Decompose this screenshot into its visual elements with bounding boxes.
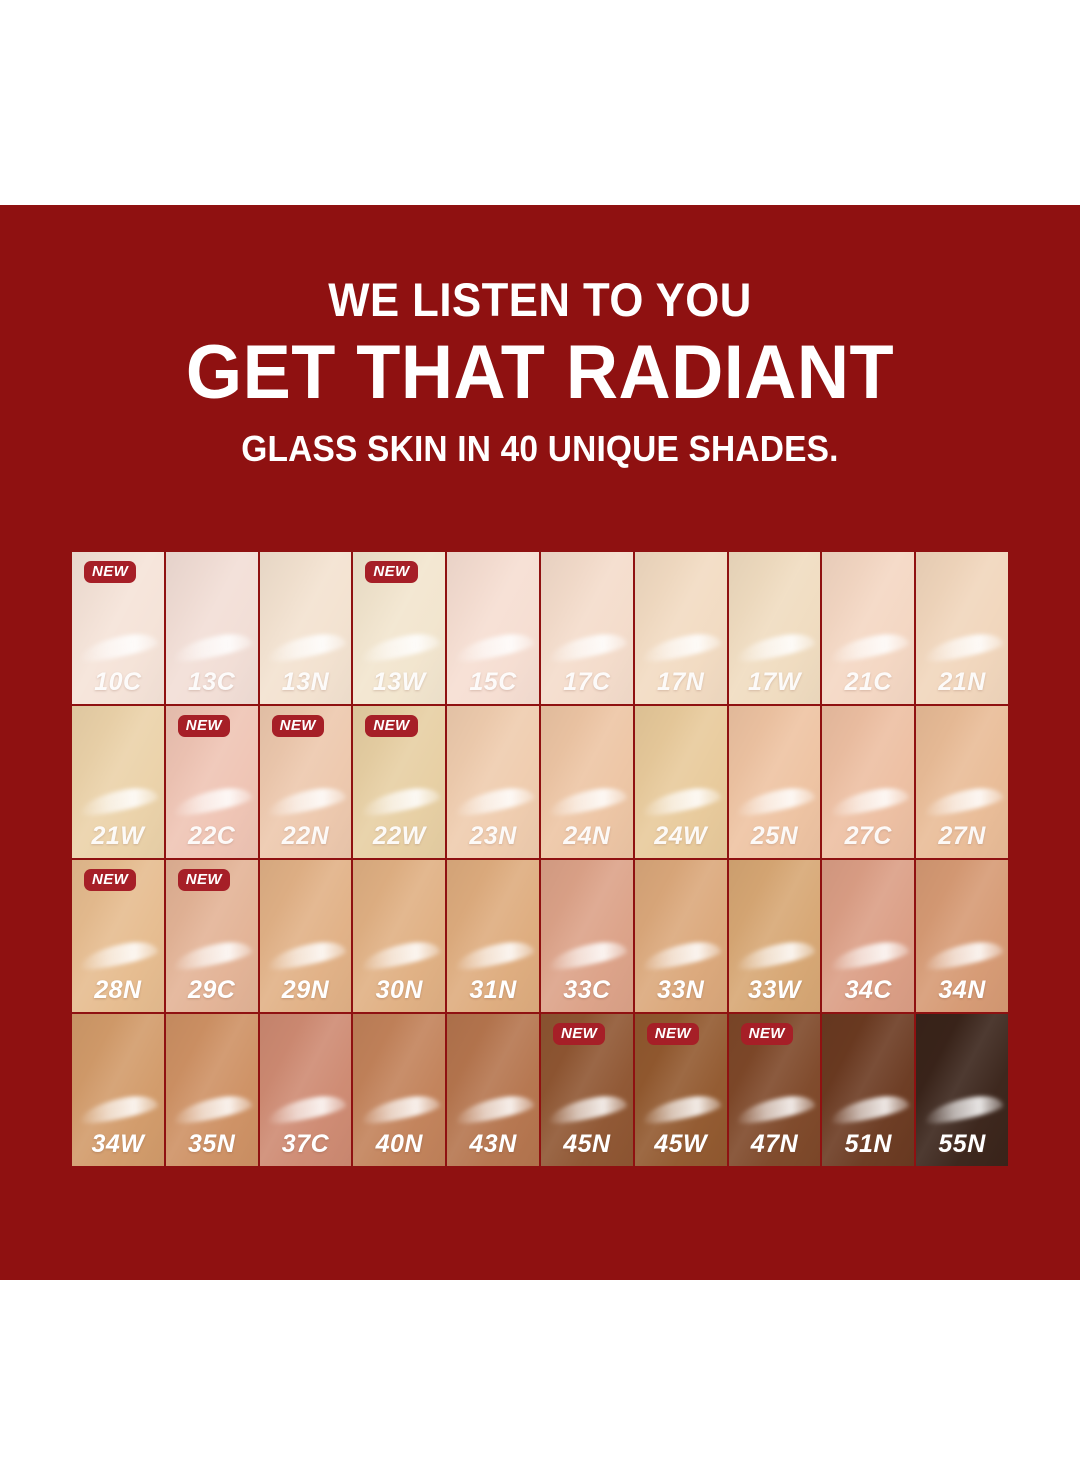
shade-code-label: 29N: [260, 976, 352, 1005]
shade-code-label: 27C: [822, 822, 914, 851]
shade-code-label: 51N: [822, 1130, 914, 1159]
shade-swatch[interactable]: 34W: [72, 1014, 164, 1166]
shade-code-label: 21N: [916, 668, 1008, 697]
shade-code-label: 22W: [353, 822, 445, 851]
shade-swatch[interactable]: 37C: [260, 1014, 352, 1166]
shade-swatch[interactable]: NEW10C: [72, 552, 164, 704]
shade-code-label: 17C: [541, 668, 633, 697]
page-title: GET THAT RADIANT: [27, 335, 1053, 411]
shade-swatch[interactable]: 30N: [353, 860, 445, 1012]
shade-swatch[interactable]: NEW13W: [353, 552, 445, 704]
subtitle-text: GLASS SKIN IN 40 UNIQUE SHADES.: [38, 431, 1042, 467]
shade-swatch[interactable]: 40N: [353, 1014, 445, 1166]
shade-code-label: 33N: [635, 976, 727, 1005]
shade-code-label: 33C: [541, 976, 633, 1005]
shade-code-label: 40N: [353, 1130, 445, 1159]
shade-swatch[interactable]: 34N: [916, 860, 1008, 1012]
new-badge: NEW: [365, 715, 417, 737]
shade-swatch[interactable]: 13N: [260, 552, 352, 704]
shade-swatch[interactable]: NEW22C: [166, 706, 258, 858]
shade-swatch[interactable]: 24W: [635, 706, 727, 858]
shade-swatch[interactable]: 17C: [541, 552, 633, 704]
shade-code-label: 34C: [822, 976, 914, 1005]
shade-swatch[interactable]: 33C: [541, 860, 633, 1012]
shade-swatch[interactable]: 13C: [166, 552, 258, 704]
shade-code-label: 15C: [447, 668, 539, 697]
new-badge: NEW: [741, 1023, 793, 1045]
new-badge: NEW: [178, 869, 230, 891]
shade-code-label: 22C: [166, 822, 258, 851]
shade-swatch[interactable]: 21N: [916, 552, 1008, 704]
shade-code-label: 13C: [166, 668, 258, 697]
shade-swatch[interactable]: 33N: [635, 860, 727, 1012]
shade-code-label: 29C: [166, 976, 258, 1005]
shade-swatch[interactable]: 35N: [166, 1014, 258, 1166]
shade-code-label: 28N: [72, 976, 164, 1005]
shade-code-label: 37C: [260, 1130, 352, 1159]
new-badge: NEW: [365, 561, 417, 583]
heading-block: WE LISTEN TO YOU GET THAT RADIANT GLASS …: [0, 276, 1080, 467]
shade-code-label: 33W: [729, 976, 821, 1005]
eyebrow-text: WE LISTEN TO YOU: [38, 276, 1042, 323]
shade-swatch[interactable]: 27C: [822, 706, 914, 858]
shade-code-label: 23N: [447, 822, 539, 851]
shade-code-label: 17N: [635, 668, 727, 697]
shade-code-label: 34W: [72, 1130, 164, 1159]
shade-code-label: 34N: [916, 976, 1008, 1005]
shade-swatch[interactable]: 25N: [729, 706, 821, 858]
promo-page: WE LISTEN TO YOU GET THAT RADIANT GLASS …: [0, 0, 1080, 1479]
shade-swatch[interactable]: 34C: [822, 860, 914, 1012]
new-badge: NEW: [272, 715, 324, 737]
shade-swatch[interactable]: NEW22N: [260, 706, 352, 858]
shade-swatch[interactable]: 17N: [635, 552, 727, 704]
shade-code-label: 24W: [635, 822, 727, 851]
shade-code-label: 21W: [72, 822, 164, 851]
shade-swatch[interactable]: NEW47N: [729, 1014, 821, 1166]
new-badge: NEW: [84, 561, 136, 583]
new-badge: NEW: [178, 715, 230, 737]
shade-swatch[interactable]: 27N: [916, 706, 1008, 858]
shade-code-label: 35N: [166, 1130, 258, 1159]
shade-code-label: 25N: [729, 822, 821, 851]
shade-swatch[interactable]: NEW22W: [353, 706, 445, 858]
shade-swatch[interactable]: 29N: [260, 860, 352, 1012]
shade-code-label: 55N: [916, 1130, 1008, 1159]
shade-code-label: 24N: [541, 822, 633, 851]
shade-swatch[interactable]: 23N: [447, 706, 539, 858]
shade-code-label: 10C: [72, 668, 164, 697]
shade-code-label: 45N: [541, 1130, 633, 1159]
shade-code-label: 17W: [729, 668, 821, 697]
shade-swatch[interactable]: 21W: [72, 706, 164, 858]
shade-code-label: 27N: [916, 822, 1008, 851]
new-badge: NEW: [553, 1023, 605, 1045]
shade-swatch[interactable]: NEW28N: [72, 860, 164, 1012]
shade-code-label: 13N: [260, 668, 352, 697]
shade-code-label: 45W: [635, 1130, 727, 1159]
shade-code-label: 21C: [822, 668, 914, 697]
shade-code-label: 13W: [353, 668, 445, 697]
shade-swatch[interactable]: 15C: [447, 552, 539, 704]
shade-code-label: 22N: [260, 822, 352, 851]
shade-code-label: 30N: [353, 976, 445, 1005]
shade-swatch[interactable]: 21C: [822, 552, 914, 704]
shade-swatch[interactable]: NEW45W: [635, 1014, 727, 1166]
shade-swatch[interactable]: 31N: [447, 860, 539, 1012]
shade-code-label: 31N: [447, 976, 539, 1005]
shade-swatch[interactable]: NEW45N: [541, 1014, 633, 1166]
shade-swatch[interactable]: 51N: [822, 1014, 914, 1166]
shade-code-label: 43N: [447, 1130, 539, 1159]
shade-swatch[interactable]: 17W: [729, 552, 821, 704]
shade-swatch[interactable]: 24N: [541, 706, 633, 858]
shade-grid: NEW10C13C13NNEW13W15C17C17N17W21C21N21WN…: [72, 552, 1008, 1166]
new-badge: NEW: [647, 1023, 699, 1045]
shade-swatch[interactable]: NEW29C: [166, 860, 258, 1012]
shade-swatch[interactable]: 33W: [729, 860, 821, 1012]
new-badge: NEW: [84, 869, 136, 891]
shade-swatch[interactable]: 55N: [916, 1014, 1008, 1166]
shade-code-label: 47N: [729, 1130, 821, 1159]
shade-swatch[interactable]: 43N: [447, 1014, 539, 1166]
